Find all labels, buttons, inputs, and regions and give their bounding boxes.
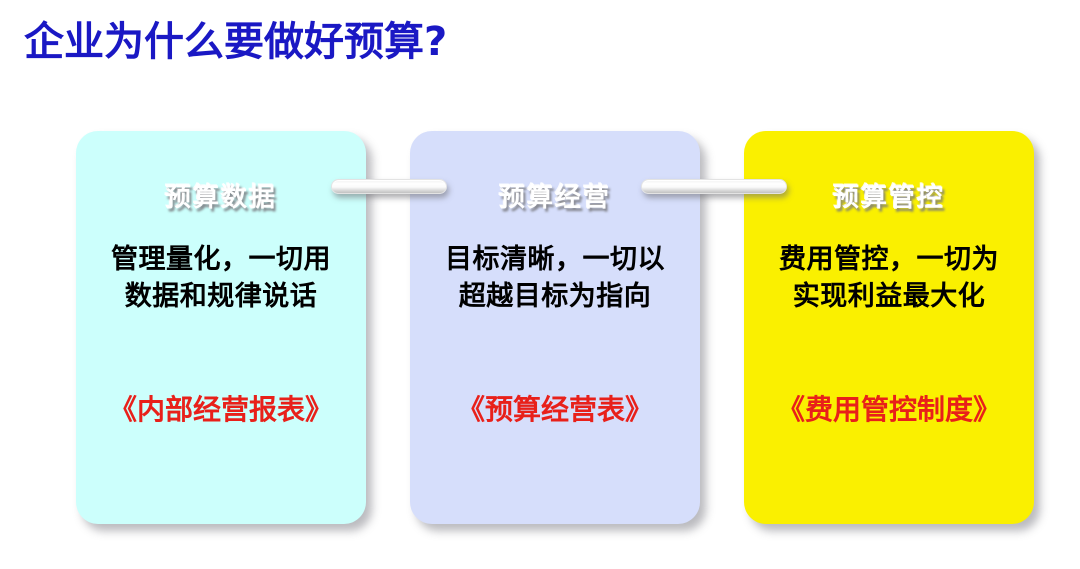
card-body-line1: 管理量化，一切用: [111, 244, 331, 275]
card-body-line2: 超越目标为指向: [424, 278, 686, 315]
card-body-line2: 实现利益最大化: [758, 278, 1020, 315]
card-reference-budget-data: 《内部经营报表》: [84, 388, 358, 428]
card-reference-budget-control: 《费用管控制度》: [752, 388, 1026, 428]
card-body-budget-data: 管理量化，一切用 数据和规律说话: [90, 241, 352, 316]
card-group: 预算数据 管理量化，一切用 数据和规律说话 《内部经营报表》 预算经营 目标清晰…: [0, 0, 1080, 569]
card-body-line2: 数据和规律说话: [90, 278, 352, 315]
card-budget-data[interactable]: 预算数据 管理量化，一切用 数据和规律说话 《内部经营报表》: [76, 131, 366, 524]
card-reference-budget-operation: 《预算经营表》: [418, 388, 692, 428]
connector-bar-icon-1: [331, 179, 447, 194]
card-header-budget-data: 预算数据: [76, 177, 366, 214]
card-budget-control[interactable]: 预算管控 费用管控，一切为 实现利益最大化 《费用管控制度》: [744, 131, 1034, 524]
card-body-budget-operation: 目标清晰，一切以 超越目标为指向: [424, 241, 686, 316]
card-header-budget-control: 预算管控: [744, 177, 1034, 214]
card-body-line1: 费用管控，一切为: [779, 244, 999, 275]
card-body-line1: 目标清晰，一切以: [445, 244, 665, 275]
connector-bar-icon-2: [641, 179, 787, 194]
card-body-budget-control: 费用管控，一切为 实现利益最大化: [758, 241, 1020, 316]
